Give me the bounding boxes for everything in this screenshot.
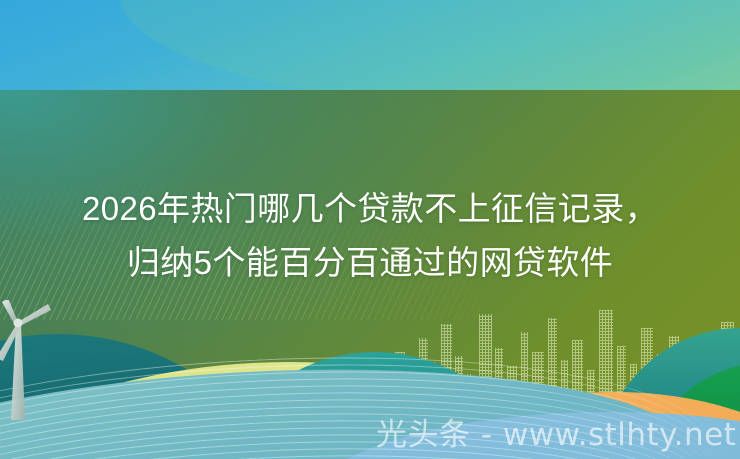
wind-turbine-icon xyxy=(0,300,104,420)
sky-background xyxy=(0,0,740,92)
headline-line-2: 归纳5个能百分百通过的网贷软件 xyxy=(0,236,740,290)
headline: 2026年热门哪几个贷款不上征信记录， 归纳5个能百分百通过的网贷软件 xyxy=(0,182,740,290)
promo-banner: 2026年热门哪几个贷款不上征信记录， 归纳5个能百分百通过的网贷软件 光头条 … xyxy=(0,0,740,459)
site-watermark: 光头条 - www.stlhty.net xyxy=(376,418,736,452)
headline-line-1: 2026年热门哪几个贷款不上征信记录， xyxy=(0,182,740,236)
